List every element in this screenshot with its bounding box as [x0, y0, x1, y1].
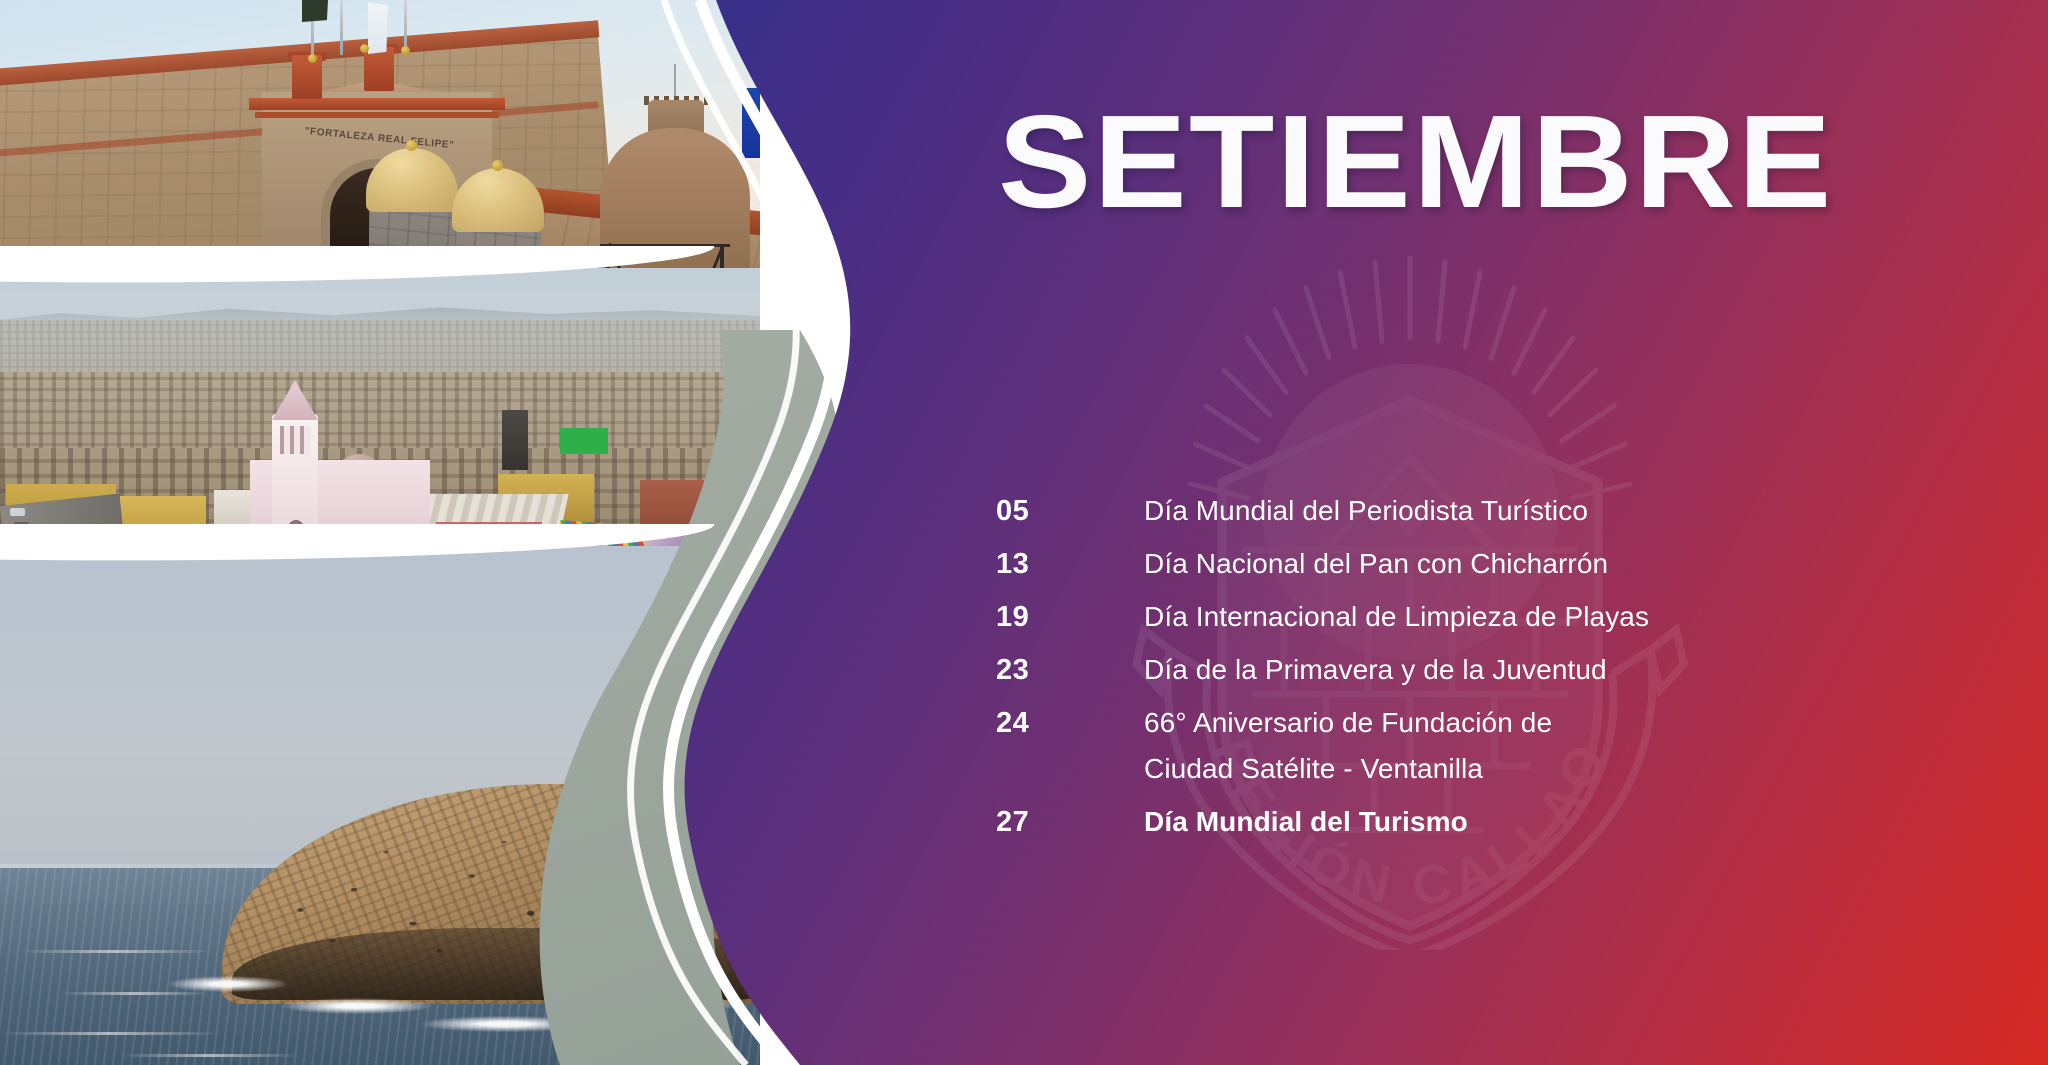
- wave-crest: [0, 1032, 220, 1035]
- event-row: 13Día Nacional del Pan con Chicharrón: [996, 541, 1756, 587]
- event-row: 2466° Aniversario de Fundación de Ciudad…: [996, 700, 1756, 792]
- month-title: SETIEMBRE: [998, 96, 1833, 228]
- event-list: 05Día Mundial del Periodista Turístico13…: [996, 488, 1756, 852]
- event-label: Día Mundial del Periodista Turístico: [1144, 488, 1588, 534]
- finial-ball: [360, 44, 369, 53]
- dome-finial: [406, 140, 417, 151]
- event-label: Día Nacional del Pan con Chicharrón: [1144, 541, 1608, 587]
- calendar-page: "FORTALEZA REAL FELIPE": [0, 0, 2048, 1065]
- tower-mast: [674, 64, 676, 98]
- event-label: Día Mundial del Turismo: [1144, 799, 1468, 845]
- church-belfry: [280, 426, 310, 454]
- event-label: Día Internacional de Limpieza de Playas: [1144, 594, 1649, 640]
- flagpole: [404, 0, 407, 52]
- event-row: 19Día Internacional de Limpieza de Playa…: [996, 594, 1756, 640]
- event-label: 66° Aniversario de Fundación de Ciudad S…: [1144, 700, 1552, 792]
- surf-foam: [168, 976, 288, 992]
- flag-dark: [302, 0, 328, 22]
- event-day: 05: [996, 488, 1144, 534]
- finial-ball: [308, 54, 317, 63]
- gate-cornice: [249, 98, 505, 110]
- wave-crest: [60, 992, 210, 995]
- merlon: [292, 55, 322, 99]
- flag-white: [368, 2, 388, 54]
- finial-ball: [401, 46, 410, 55]
- event-day: 24: [996, 700, 1144, 746]
- dome-finial: [492, 160, 503, 171]
- photo-centro-historico-callao: [0, 268, 760, 568]
- tall-building: [502, 410, 528, 470]
- event-day: 27: [996, 799, 1144, 845]
- parked-car: [10, 508, 25, 516]
- wave-crest: [120, 1054, 300, 1057]
- event-row: 23Día de la Primavera y de la Juventud: [996, 647, 1756, 693]
- event-day: 19: [996, 594, 1144, 640]
- flag-blue: [742, 88, 760, 158]
- green-billboard: [560, 428, 608, 454]
- event-row: 27Día Mundial del Turismo: [996, 799, 1756, 845]
- wave-crest: [20, 950, 210, 953]
- event-day: 23: [996, 647, 1144, 693]
- surf-foam: [282, 998, 432, 1014]
- event-row: 05Día Mundial del Periodista Turístico: [996, 488, 1756, 534]
- flagpole: [340, 0, 343, 55]
- gate-cornice-lower: [255, 112, 499, 118]
- event-label: Día de la Primavera y de la Juventud: [1144, 647, 1607, 693]
- event-day: 13: [996, 541, 1144, 587]
